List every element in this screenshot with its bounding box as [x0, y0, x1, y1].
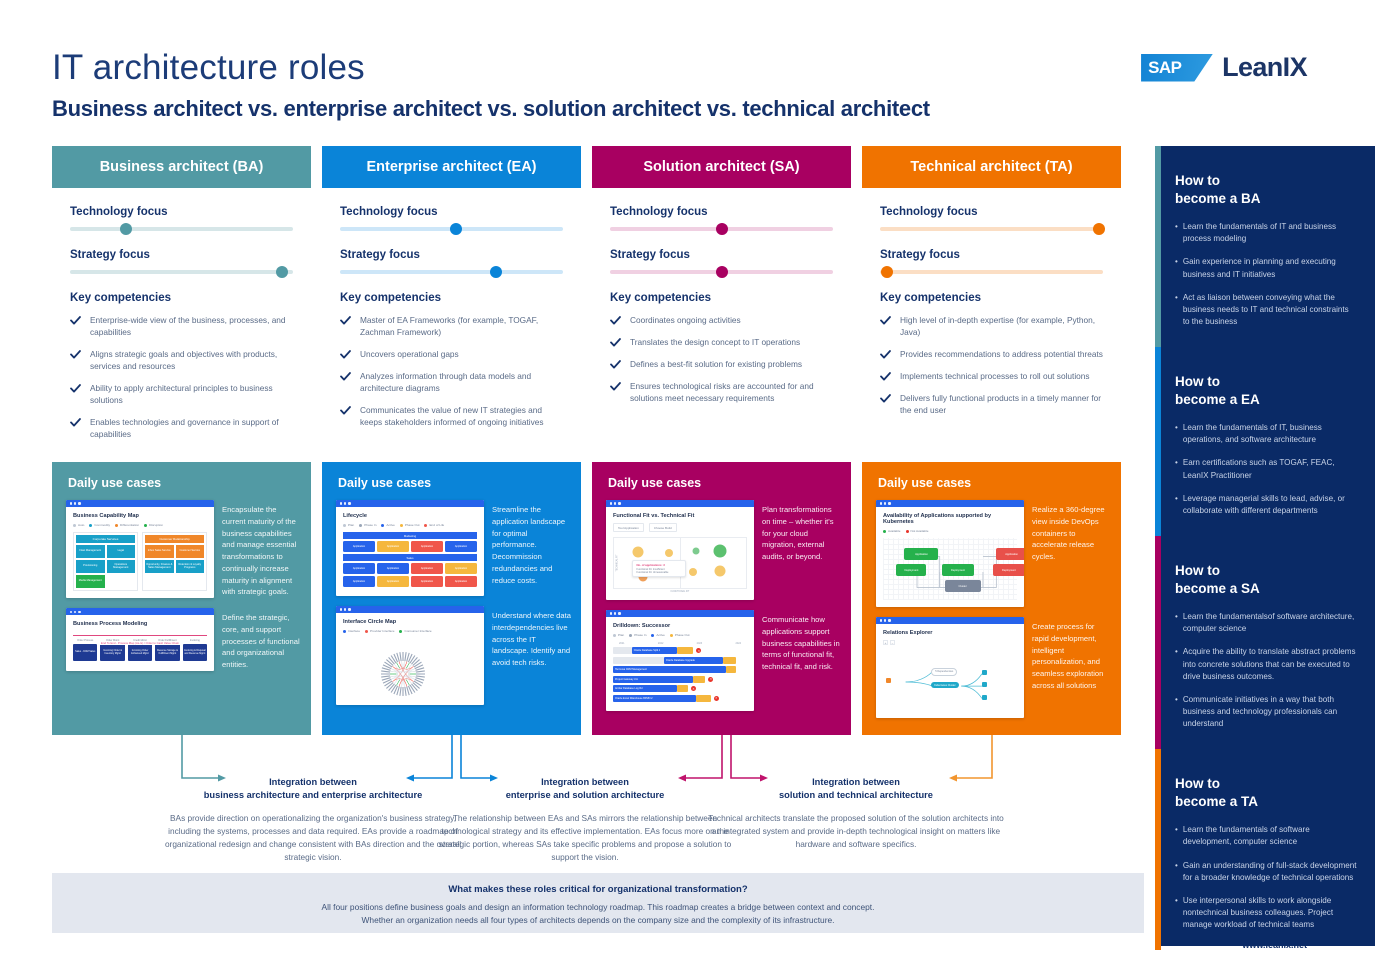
page-title: IT architecture roles	[52, 48, 930, 88]
howto-item: •Learn the fundamentals of software deve…	[1175, 824, 1357, 848]
daily-use-cases-ea: Daily use casesLifecyclePlanPhase InActi…	[322, 462, 581, 735]
howto-section: How tobecome a SA•Learn the fundamentals…	[1155, 536, 1375, 749]
legend-item: Phase In	[629, 633, 646, 637]
use-case-row: Relations Explorer+−Oracle Database Spli…	[862, 607, 1121, 718]
screenshot-title: Functional Fit vs. Technical Fit	[613, 513, 747, 519]
integration-heading: Integration between business architectur…	[163, 776, 463, 803]
screenshot-body: LifecyclePlanPhase InActivePhase OutEnd …	[336, 507, 484, 596]
zoom-control[interactable]: −	[890, 640, 895, 645]
competency-text: Enterprise-wide view of the business, pr…	[90, 314, 293, 338]
howto-title-line2: become a BA	[1175, 191, 1261, 206]
check-icon	[610, 338, 621, 347]
gantt-bar[interactable]: Ambar Database Log Rd	[613, 685, 677, 692]
daily-use-cases-sa: Daily use casesFunctional Fit vs. Techni…	[592, 462, 851, 735]
use-case-caption: Streamline the application landscape for…	[492, 500, 571, 596]
competency-item: Defines a best-fit solution for existing…	[610, 358, 833, 370]
integration-heading: Integration between enterprise and solut…	[435, 776, 735, 803]
capability-box[interactable]: Provisioning	[76, 560, 105, 573]
window-dot	[614, 502, 616, 504]
capability-box[interactable]: Legal	[107, 545, 136, 558]
capability-box[interactable]: Opportunity, Finance & Sales Management	[145, 560, 174, 573]
bubble[interactable]	[689, 568, 697, 576]
check-icon	[70, 384, 81, 393]
legend-item: Disruption	[144, 523, 163, 527]
legend-dot	[629, 634, 632, 637]
legend-dot	[343, 524, 346, 527]
integration-heading: Integration between solution and technic…	[706, 776, 1006, 803]
lifecycle-app-box[interactable]: Application	[377, 541, 409, 552]
lifecycle-band: Sales	[343, 554, 477, 561]
howto-stripe	[1155, 146, 1161, 347]
graph-node-root[interactable]: Oracle Database Split	[886, 678, 917, 683]
integration-body: Technical architects translate the propo…	[706, 812, 1006, 851]
bubble[interactable]	[692, 548, 699, 555]
technology-focus-knob[interactable]	[1093, 223, 1105, 235]
lifecycle-app-box[interactable]: Application	[411, 541, 443, 552]
screenshot-title: Business Process Modeling	[73, 621, 207, 627]
k8s-node[interactable]: Cluster	[945, 580, 981, 592]
window-dot	[344, 502, 346, 504]
legend-label: Plan	[618, 633, 624, 637]
integration-heading-line2: enterprise and solution architecture	[506, 790, 665, 800]
howto-title-line2: become a SA	[1175, 581, 1260, 596]
legend-item: End of Life	[424, 523, 444, 527]
window-dot	[70, 502, 72, 504]
gantt-year: 2024	[735, 642, 741, 645]
k8s-node[interactable]: Application	[904, 548, 938, 560]
window-dot	[618, 502, 620, 504]
check-icon	[880, 350, 891, 359]
lifecycle-app-box[interactable]: Application	[343, 563, 375, 574]
daily-use-cases-title: Daily use cases	[322, 462, 581, 490]
relations-explorer-graph[interactable]: Oracle Database Split5 DependenciesKuber…	[883, 649, 1017, 711]
lifecycle-app-box[interactable]: Application	[411, 563, 443, 574]
competency-text: Aligns strategic goals and objectives wi…	[90, 348, 293, 372]
bubble-chart[interactable]: No. of applications: 3Functional Fit: In…	[613, 537, 747, 589]
page-header: IT architecture roles Business architect…	[52, 48, 930, 122]
legend-dot	[883, 530, 886, 533]
lifecycle-app-box[interactable]: Application	[377, 563, 409, 574]
role-column-header: Technical architect (TA)	[862, 146, 1121, 188]
role-column-ea: Enterprise architect (EA)Technology focu…	[322, 146, 581, 438]
legend-dot	[144, 524, 147, 527]
chart-button[interactable]: Choose Build	[649, 523, 677, 532]
window-titlebar	[336, 606, 484, 613]
app-screenshot[interactable]: Drilldown: SuccessorPlanPhase InActivePh…	[606, 610, 754, 711]
capability-box[interactable]: Fleet Management	[76, 545, 105, 558]
competency-text: Ensures technological risks are accounte…	[630, 380, 833, 404]
screenshot-title: Business Capability Map	[73, 513, 207, 519]
technology-focus-slider[interactable]	[340, 227, 563, 231]
competency-text: Communicates the value of new IT strateg…	[360, 404, 563, 428]
lifecycle-app-box[interactable]: Application	[411, 576, 443, 587]
legend-item: Phase Out	[670, 633, 690, 637]
howto-item: •Leverage managerial skills to lead, adv…	[1175, 493, 1357, 517]
legend-item: Active	[381, 523, 394, 527]
bubble[interactable]	[713, 545, 726, 558]
lifecycle-band: Marketing	[343, 532, 477, 539]
lifecycle-app-box[interactable]: Application	[343, 541, 375, 552]
app-screenshot[interactable]: Business Process ModelingEnd To End - Pr…	[66, 608, 214, 671]
competency-text: Coordinates ongoing activities	[630, 314, 741, 326]
process-step-box: Incoming Order Enhanced Mgmt	[128, 644, 152, 661]
technology-focus-slider[interactable]	[70, 227, 293, 231]
screenshot-title: Availability of Applications supported b…	[883, 513, 1017, 525]
bullet-icon: •	[1175, 422, 1178, 446]
gantt-bar[interactable]: Oracle Database Upgrade	[664, 657, 723, 664]
strategy-focus-knob[interactable]	[490, 266, 502, 278]
strategy-focus-knob[interactable]	[881, 266, 893, 278]
window-dot	[884, 502, 886, 504]
app-screenshot[interactable]: Relations Explorer+−Oracle Database Spli…	[876, 617, 1024, 718]
legend-dot	[381, 524, 384, 527]
legend-dot	[613, 634, 616, 637]
legend-dot	[651, 634, 654, 637]
legend-item: Plan	[613, 633, 624, 637]
check-icon	[880, 372, 891, 381]
gantt-year: 2022	[658, 642, 664, 645]
chart-legend: AvailableNot Available	[883, 529, 1017, 533]
capability-box[interactable]: Customer Service	[176, 545, 205, 558]
check-icon	[70, 350, 81, 359]
window-dot	[888, 619, 890, 621]
k8s-node[interactable]: Deployment	[942, 564, 974, 576]
howto-item: •Communicate initiatives in a way that b…	[1175, 694, 1357, 730]
graph-node-dependencies[interactable]: 5 Dependencies	[931, 668, 957, 676]
competency-item: Ensures technological risks are accounte…	[610, 380, 833, 404]
daily-use-cases-ta: Daily use casesAvailability of Applicati…	[862, 462, 1121, 735]
gantt-row[interactable]: Oracle Database Split 1×	[613, 647, 747, 654]
process-step[interactable]: Order ProcessSales - KOM Sales	[73, 639, 97, 661]
howto-title: How tobecome a TA	[1175, 775, 1357, 810]
process-step[interactable]: InvoicingInvoicing & Disposal and Revenu…	[183, 639, 207, 661]
legend-label: Phase Out	[405, 523, 420, 527]
tooltip-title: No. of applications: 3	[636, 563, 682, 567]
focus-sliders: Technology focusStrategy focus	[52, 188, 311, 274]
capability-box[interactable]: Retention & Loyalty Programs	[176, 560, 205, 573]
legend-label: Auto	[78, 523, 84, 527]
technology-focus-knob[interactable]	[716, 223, 728, 235]
process-step-label: Invoicing	[183, 639, 207, 642]
graph-node-cluster[interactable]: Kubernetes Cluster	[931, 682, 958, 688]
use-case-caption: Create process for rapid development, in…	[1032, 617, 1111, 718]
process-step-box: Incoming Order & Inventory Mgmt	[100, 644, 124, 661]
window-titlebar	[606, 500, 754, 507]
window-dot	[340, 502, 342, 504]
capability-box[interactable]: Operations Management	[107, 560, 136, 573]
window-titlebar	[876, 617, 1024, 624]
legend-item: Not Available	[906, 529, 929, 533]
legend-item: Phase In	[359, 523, 376, 527]
legend-dot	[73, 524, 76, 527]
legend-dot	[89, 524, 92, 527]
capability-map: Corporate ServicesFleet ManagementLegalP…	[73, 532, 207, 591]
capability-group-header: Customer Relationship	[145, 535, 204, 543]
sap-logo-mark: SAP	[1141, 54, 1213, 82]
howto-stripe	[1155, 536, 1161, 749]
howto-title-line2: become a TA	[1175, 794, 1258, 809]
strategy-focus-slider[interactable]	[340, 270, 563, 274]
technology-focus-slider[interactable]	[610, 227, 833, 231]
howto-item-text: Learn the fundamentals of software devel…	[1183, 824, 1357, 848]
legend-dot	[343, 630, 346, 633]
check-icon	[610, 316, 621, 325]
competency-text: Uncovers operational gaps	[360, 348, 459, 360]
process-step-label: Order Process	[73, 639, 97, 642]
y-axis-label: TECHNICAL FIT	[617, 554, 619, 571]
screenshot-body: Business Process ModelingEnd To End - Pr…	[66, 615, 214, 668]
process-flow-arrow: End To End - Process Map (As-Is) / Order…	[73, 635, 207, 636]
howto-title: How tobecome a EA	[1175, 373, 1357, 408]
lifecycle-row: ApplicationApplicationApplicationApplica…	[343, 563, 477, 574]
chart-legend: PlanPhase InActivePhase OutEnd of Life	[343, 523, 477, 527]
app-screenshot[interactable]: Interface Circle MapInterfaceProvider In…	[336, 606, 484, 705]
competency-item: Analyzes information through data models…	[340, 370, 563, 394]
competency-text: Enables technologies and governance in s…	[90, 416, 293, 440]
bubble[interactable]	[714, 566, 725, 577]
window-dot	[78, 502, 80, 504]
kubernetes-diagram[interactable]: ApplicationDeploymentDeploymentApplicati…	[883, 538, 1017, 600]
howto-section: How tobecome a TA•Learn the fundamentals…	[1155, 749, 1375, 950]
bullet-icon: •	[1175, 646, 1178, 682]
remove-icon[interactable]: ×	[691, 686, 696, 691]
footer-panel: What makes these roles critical for orga…	[52, 873, 1144, 933]
integration-heading-line1: Integration between	[269, 777, 357, 787]
legend-dot	[115, 524, 118, 527]
check-icon	[880, 316, 891, 325]
chart-legend: PlanPhase InActivePhase Out	[613, 633, 747, 637]
integration-block-ea-sa: Integration between enterprise and solut…	[435, 776, 735, 863]
chart-legend: AutoCommodityDifferentiationDisruption	[73, 523, 207, 527]
integration-body: The relationship between EAs and SAs mir…	[435, 812, 735, 863]
howto-item: •Gain experience in planning and executi…	[1175, 256, 1357, 280]
lifecycle-app-box[interactable]: Application	[445, 576, 477, 587]
bullet-icon: •	[1175, 256, 1178, 280]
screenshot-body: Availability of Applications supported b…	[876, 507, 1024, 607]
graph-node-leaf[interactable]: GitLab	[982, 670, 996, 675]
gantt-phaseout	[726, 666, 737, 673]
daily-use-cases-title: Daily use cases	[862, 462, 1121, 490]
chart-button[interactable]: Tool Application	[613, 523, 644, 532]
technology-focus-label: Technology focus	[610, 206, 833, 218]
legend-label: Active	[386, 523, 394, 527]
howto-section: How tobecome a EA•Learn the fundamentals…	[1155, 347, 1375, 536]
node-icon	[982, 682, 987, 687]
bullet-icon: •	[1175, 457, 1178, 481]
legend-label: Not Available	[911, 529, 929, 533]
howto-item-text: Gain an understanding of full-stack deve…	[1183, 860, 1357, 884]
k8s-node[interactable]: Application	[996, 548, 1024, 560]
legend-label: Disruption	[149, 523, 163, 527]
capability-grid: Fleet ManagementLegalProvisioningOperati…	[76, 545, 135, 588]
gantt-bar[interactable]: Hermosa CRM Management	[613, 666, 726, 673]
gantt-bar[interactable]: Oracle Excel Warehouse BPMN 2	[613, 695, 696, 702]
gantt-year: 2021	[619, 642, 625, 645]
check-icon	[610, 382, 621, 391]
x-axis-label: FUNCTIONAL FIT	[613, 591, 747, 593]
check-icon	[340, 372, 351, 381]
use-case-caption: Encapsulate the current maturity of the …	[222, 500, 301, 598]
screenshot-title: Interface Circle Map	[343, 619, 477, 625]
app-screenshot[interactable]: Availability of Applications supported b…	[876, 500, 1024, 607]
gantt-row[interactable]: Ambar Database Log Rd×	[613, 685, 747, 692]
legend-item: Provider Interface	[365, 629, 394, 633]
legend-label: Provider Interface	[370, 629, 394, 633]
bubble[interactable]	[632, 547, 643, 558]
page-subtitle: Business architect vs. enterprise archit…	[52, 96, 930, 122]
window-dot	[70, 611, 72, 613]
howto-title: How tobecome a BA	[1175, 172, 1357, 207]
gantt-row[interactable]: Project Gateway Uni×	[613, 676, 747, 683]
technology-focus-slider[interactable]	[880, 227, 1103, 231]
check-icon	[70, 418, 81, 427]
legend-dot	[400, 524, 403, 527]
capability-box[interactable]: Inbox Sales Service	[145, 545, 174, 558]
capability-column: Customer RelationshipInbox Sales Service…	[142, 532, 207, 591]
leanix-wordmark: LeanIX	[1222, 52, 1307, 83]
howto-item: •Earn certifications such as TOGAF, FEAC…	[1175, 457, 1357, 481]
capability-box[interactable]: Media Management	[76, 575, 105, 588]
window-dot	[888, 502, 890, 504]
strategy-focus-knob[interactable]	[276, 266, 288, 278]
howto-title-line1: How to	[1175, 173, 1220, 188]
competency-item: Master of EA Frameworks (for example, TO…	[340, 314, 563, 338]
strategy-focus-slider[interactable]	[880, 270, 1103, 274]
howto-item-text: Learn the fundamentals of IT and busines…	[1183, 221, 1357, 245]
competency-item: Delivers fully functional products in a …	[880, 392, 1103, 416]
competency-text: Delivers fully functional products in a …	[900, 392, 1103, 416]
legend-label: Phase Out	[675, 633, 690, 637]
remove-icon[interactable]: ×	[696, 648, 701, 653]
window-dot	[618, 612, 620, 614]
bullet-icon: •	[1175, 694, 1178, 730]
legend-label: Plan	[348, 523, 354, 527]
technology-focus-knob[interactable]	[450, 223, 462, 235]
competency-text: Provides recommendations to address pote…	[900, 348, 1103, 360]
lifecycle-row: ApplicationApplicationApplicationApplica…	[343, 541, 477, 552]
howto-item: •Use interpersonal skills to work alongs…	[1175, 895, 1357, 931]
gantt-row[interactable]: Hermosa CRM Management	[613, 666, 747, 673]
howto-title-line1: How to	[1175, 374, 1220, 389]
focus-sliders: Technology focusStrategy focus	[862, 188, 1121, 274]
window-dot	[610, 612, 612, 614]
howto-item-text: Communicate initiatives in a way that bo…	[1183, 694, 1357, 730]
legend-dot	[906, 530, 909, 533]
howto-item: •Learn the fundamentals of IT, business …	[1175, 422, 1357, 446]
strategy-focus-slider[interactable]	[610, 270, 833, 274]
window-dot	[348, 608, 350, 610]
daily-use-cases-title: Daily use cases	[592, 462, 851, 490]
window-dot	[880, 502, 882, 504]
remove-icon[interactable]: ×	[708, 677, 713, 682]
focus-sliders: Technology focusStrategy focus	[322, 188, 581, 274]
gantt-row[interactable]: Oracle Database Upgrade	[613, 657, 747, 664]
gantt-phaseout	[693, 676, 705, 683]
role-column-ba: Business architect (BA)Technology focusS…	[52, 146, 311, 450]
node-label: NGINX	[989, 696, 997, 699]
explorer-controls: +−	[883, 640, 1017, 645]
competency-item: Enables technologies and governance in s…	[70, 416, 293, 440]
competency-text: Translates the design concept to IT oper…	[630, 336, 800, 348]
howto-item: •Learn the fundamentalsof software archi…	[1175, 611, 1357, 635]
key-competencies-list: High level of in-depth expertise (for ex…	[862, 314, 1121, 416]
gantt-phaseout	[696, 695, 711, 702]
app-screenshot[interactable]: Business Capability MapAutoCommodityDiff…	[66, 500, 214, 598]
screenshot-body: Business Capability MapAutoCommodityDiff…	[66, 507, 214, 598]
app-screenshot[interactable]: Functional Fit vs. Technical FitTool App…	[606, 500, 754, 600]
interface-circle-map[interactable]	[343, 638, 477, 698]
graph-node-leaf[interactable]: NGINX	[982, 695, 996, 700]
window-dot	[340, 608, 342, 610]
howto-title-line2: become a EA	[1175, 392, 1260, 407]
lifecycle-app-box[interactable]: Application	[343, 576, 375, 587]
tooltip-line: Functional Fit: Unreasonable	[636, 571, 682, 574]
strategy-focus-knob[interactable]	[716, 266, 728, 278]
howto-section: How tobecome a BA•Learn the fundamentals…	[1155, 146, 1375, 347]
remove-icon[interactable]: ×	[714, 696, 719, 701]
competency-item: High level of in-depth expertise (for ex…	[880, 314, 1103, 338]
capability-grid: Inbox Sales ServiceCustomer ServiceOppor…	[145, 545, 204, 573]
legend-dot	[670, 634, 673, 637]
app-screenshot[interactable]: LifecyclePlanPhase InActivePhase OutEnd …	[336, 500, 484, 596]
bubble[interactable]	[665, 549, 673, 557]
gantt-row[interactable]: Oracle Excel Warehouse BPMN 2×	[613, 695, 747, 702]
use-case-row: Drilldown: SuccessorPlanPhase InActivePh…	[592, 600, 851, 711]
chart-buttons: Tool ApplicationChoose Build	[613, 523, 747, 532]
strategy-focus-slider[interactable]	[70, 270, 293, 274]
legend-dot	[424, 524, 427, 527]
footer-line-2: Whether an organization needs all four t…	[362, 915, 835, 925]
k8s-node[interactable]: Deployment	[993, 564, 1024, 576]
technology-focus-label: Technology focus	[70, 206, 293, 218]
footer-body: All four positions define business goals…	[52, 901, 1144, 928]
process-step-box: Revenue Storage & Fulfillment Mgmt	[155, 644, 179, 661]
screenshot-body: Drilldown: SuccessorPlanPhase InActivePh…	[606, 617, 754, 711]
zoom-control[interactable]: +	[883, 640, 888, 645]
technology-focus-knob[interactable]	[120, 223, 132, 235]
competency-text: Ability to apply architectural principle…	[90, 382, 293, 406]
use-case-row: Business Process ModelingEnd To End - Pr…	[52, 598, 311, 671]
lifecycle-app-box[interactable]: Application	[445, 563, 477, 574]
gantt-bar[interactable]: Project Gateway Uni	[613, 676, 693, 683]
gantt-bar[interactable]: Oracle Database Split 1	[632, 647, 678, 654]
window-dot	[610, 502, 612, 504]
k8s-node[interactable]: Deployment	[896, 564, 926, 576]
legend-label: Consumer Interface	[404, 629, 431, 633]
key-competencies-title: Key competencies	[592, 292, 851, 304]
integration-block-ba-ea: Integration between business architectur…	[163, 776, 463, 863]
role-column-header: Enterprise architect (EA)	[322, 146, 581, 188]
competency-item: Communicates the value of new IT strateg…	[340, 404, 563, 428]
sap-logo-text: SAP	[1148, 58, 1181, 78]
competency-text: Defines a best-fit solution for existing…	[630, 358, 802, 370]
competency-item: Aligns strategic goals and objectives wi…	[70, 348, 293, 372]
legend-label: End of Life	[429, 523, 444, 527]
check-icon	[340, 350, 351, 359]
howto-title-line1: How to	[1175, 563, 1220, 578]
role-column-sa: Solution architect (SA)Technology focusS…	[592, 146, 851, 414]
gantt-year: 2023	[697, 642, 703, 645]
lifecycle-app-box[interactable]: Application	[445, 541, 477, 552]
lifecycle-app-box[interactable]: Application	[377, 576, 409, 587]
use-case-caption: Define the strategic, core, and support …	[222, 608, 301, 671]
graph-node-leaf[interactable]: CI/CD Interface	[982, 682, 1006, 687]
legend-item: Interface	[343, 629, 360, 633]
focus-sliders: Technology focusStrategy focus	[592, 188, 851, 274]
check-icon	[880, 394, 891, 403]
check-icon	[340, 406, 351, 415]
bullet-icon: •	[1175, 611, 1178, 635]
